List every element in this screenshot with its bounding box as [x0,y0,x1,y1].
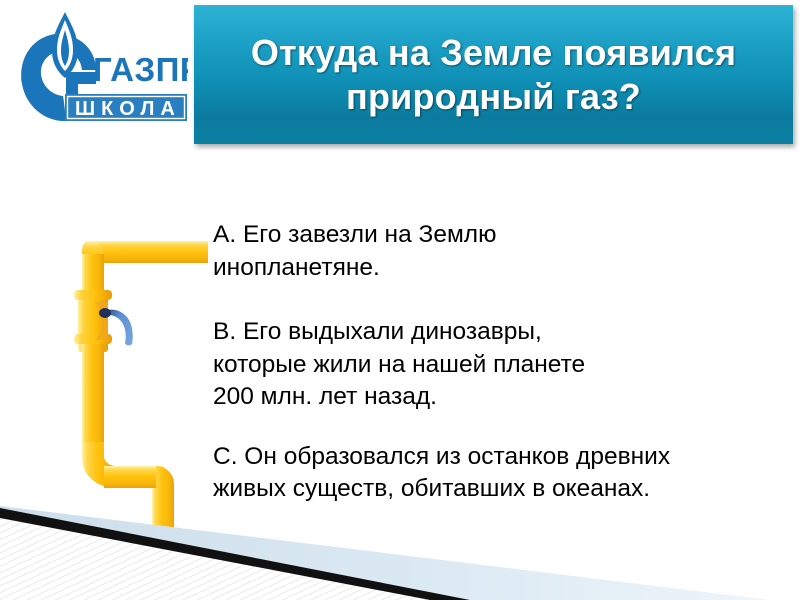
pipe-lower-vertical [82,344,104,454]
page-title: Откуда на Земле появился природный газ? [194,31,793,119]
logo-wordmark: ГАЗПРОМ [93,51,188,88]
valve-collar-top [74,290,112,300]
answer-list: A. Его завезли на Землю инопланетяне. B.… [213,219,788,506]
pipe-top-horizontal [90,241,208,263]
answer-b-line-1: B. Его выдыхали динозавры, [213,316,788,349]
answer-a-line-2: инопланетяне. [213,252,788,285]
pipe-bottom-horizontal [104,466,164,488]
answer-c-line-1: C. Он образовался из останков древних [213,441,788,474]
answer-b-line-3: 200 млн. лет назад. [213,381,788,414]
valve-handle-pivot [99,308,111,318]
slide-canvas: ГАЗПРОМ ШКОЛА Откуда на Земле появился п… [0,0,800,600]
page-title-line-1: Откуда на Земле появился [208,31,779,75]
page-title-line-2: природный газ? [208,75,779,119]
logo-subtitle: ШКОЛА [75,98,181,120]
logo-svg: ГАЗПРОМ ШКОЛА [8,6,188,141]
gas-pipe-with-valve [60,210,230,540]
answer-option-c: C. Он образовался из останков древних жи… [213,441,788,506]
pipe-svg [60,210,230,540]
answer-a-line-1: A. Его завезли на Землю [213,219,788,252]
answer-option-b: B. Его выдыхали динозавры, которые жили … [213,316,788,414]
answer-c-line-2: живых существ, обитавших в океанах. [213,473,788,506]
answer-b-line-2: которые жили на нашей планете [213,349,788,382]
answer-option-a: A. Его завезли на Землю инопланетяне. [213,219,788,284]
title-banner: Откуда на Земле появился природный газ? [194,5,793,144]
gazprom-shkola-logo: ГАЗПРОМ ШКОЛА [8,6,188,141]
